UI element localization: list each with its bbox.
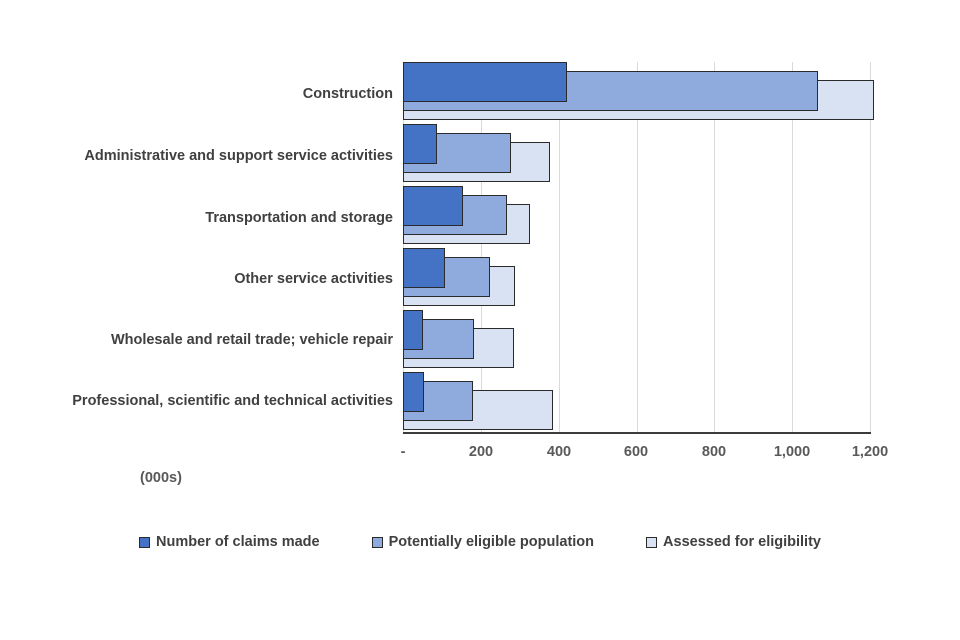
x-axis-title-text: (000s) [140,470,182,486]
category-label-professional: Professional, scientific and technical a… [72,394,393,409]
bar-group-administrative [403,124,870,186]
bar-group-other-service [403,248,870,310]
legend-item-number-of-claims-made[interactable]: Number of claims made [139,534,320,550]
bar-group-transportation [403,186,870,248]
legend-swatch-icon [372,537,383,548]
bar-number-of-claims-made [403,372,424,412]
bar-group-professional [403,372,870,434]
chart-legend: Number of claims made Potentially eligib… [0,534,960,550]
bar-chart: Construction Administrative and support … [0,0,960,640]
bar-group-construction [403,62,870,124]
plot-area [403,62,870,434]
legend-label: Potentially eligible population [389,534,594,550]
x-axis-line [403,432,871,434]
x-tick-400: 400 [547,444,571,460]
bar-group-wholesale [403,310,870,372]
x-tick-600: 600 [624,444,648,460]
x-tick-1200: 1,200 [852,444,888,460]
x-tick-800: 800 [702,444,726,460]
category-label-transportation: Transportation and storage [205,211,393,226]
x-tick-200: 200 [469,444,493,460]
bar-number-of-claims-made [403,62,567,102]
bar-number-of-claims-made [403,186,463,226]
bar-number-of-claims-made [403,248,445,288]
legend-swatch-icon [139,537,150,548]
legend-item-assessed-for-eligibility[interactable]: Assessed for eligibility [646,534,821,550]
bar-number-of-claims-made [403,310,423,350]
category-label-other-service: Other service activities [234,272,393,287]
legend-label: Number of claims made [156,534,320,550]
legend-label: Assessed for eligibility [663,534,821,550]
x-tick-0: - [401,444,406,460]
category-label-administrative: Administrative and support service activ… [84,149,393,164]
legend-item-potentially-eligible-population[interactable]: Potentially eligible population [372,534,594,550]
category-label-wholesale: Wholesale and retail trade; vehicle repa… [111,333,393,348]
bar-number-of-claims-made [403,124,437,164]
legend-swatch-icon [646,537,657,548]
x-axis-title: (000s) [0,470,960,486]
category-label-construction: Construction [303,87,393,102]
x-tick-1000: 1,000 [774,444,810,460]
